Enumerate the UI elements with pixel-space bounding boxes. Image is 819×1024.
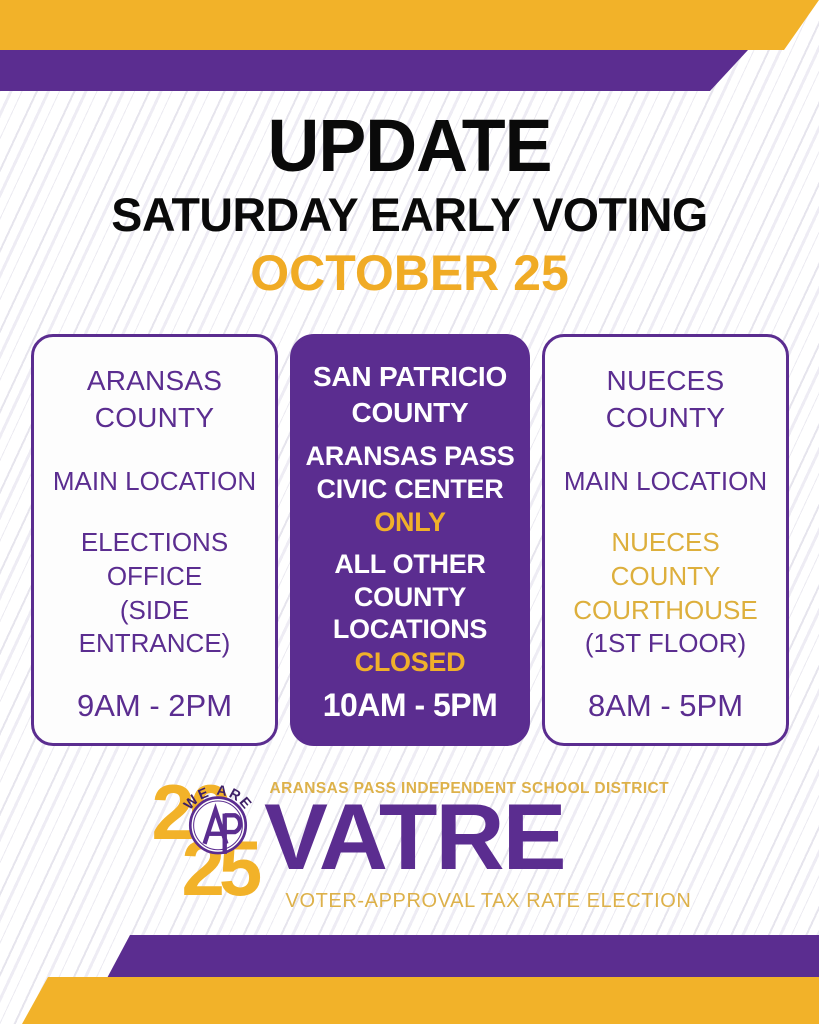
location-detail-line-2: OFFICE bbox=[42, 560, 267, 594]
county-card-nueces: NUECES COUNTY MAIN LOCATION NUECES COUNT… bbox=[542, 334, 789, 746]
closed-locations-line-1: ALL OTHER bbox=[333, 548, 487, 581]
top-purple-band bbox=[0, 50, 819, 91]
bottom-gold-band bbox=[0, 977, 819, 1024]
closed-locations: ALL OTHER COUNTY LOCATIONS CLOSED bbox=[333, 548, 487, 680]
county-name-line-1: NUECES bbox=[606, 363, 725, 400]
location-detail: ELECTIONS OFFICE (SIDE ENTRANCE) bbox=[42, 526, 267, 661]
page-subtitle: SATURDAY EARLY VOTING bbox=[4, 187, 815, 243]
event-date: OCTOBER 25 bbox=[0, 245, 819, 303]
county-name-line-1: SAN PATRICIO bbox=[313, 359, 507, 395]
location-detail-line-1: ELECTIONS bbox=[42, 526, 267, 560]
closed-status-badge: CLOSED bbox=[333, 646, 487, 679]
location-detail-line-4: (1ST FLOOR) bbox=[573, 627, 757, 661]
county-name: NUECES COUNTY bbox=[606, 363, 725, 437]
county-name-line-2: COUNTY bbox=[313, 395, 507, 431]
ap-seal-icon: WE ARE bbox=[176, 780, 260, 864]
county-name: SAN PATRICIO COUNTY bbox=[313, 359, 507, 432]
poster-canvas: UPDATE SATURDAY EARLY VOTING OCTOBER 25 … bbox=[0, 0, 819, 1024]
county-card-row: ARANSAS COUNTY MAIN LOCATION ELECTIONS O… bbox=[31, 334, 788, 746]
open-location-line-2: CIVIC CENTER bbox=[306, 473, 515, 506]
location-label: MAIN LOCATION bbox=[53, 465, 256, 499]
location-detail-line-3: COURTHOUSE bbox=[573, 594, 757, 628]
location-detail-line-1: NUECES bbox=[573, 526, 757, 560]
vatre-acronym: VATRE bbox=[264, 790, 565, 884]
headline-block: UPDATE SATURDAY EARLY VOTING OCTOBER 25 bbox=[0, 110, 819, 303]
county-name-line-1: ARANSAS bbox=[87, 363, 222, 400]
location-detail-line-2: COUNTY bbox=[573, 560, 757, 594]
open-location-emphasis: ONLY bbox=[306, 506, 515, 539]
county-name: ARANSAS COUNTY bbox=[87, 363, 222, 437]
open-location: ARANSAS PASS CIVIC CENTER ONLY bbox=[306, 440, 515, 539]
top-gold-band bbox=[0, 0, 819, 50]
voting-hours: 10AM - 5PM bbox=[323, 688, 498, 723]
page-title: UPDATE bbox=[12, 110, 806, 181]
logo-inner: 20 25 WE ARE ARANSAS PASS bbox=[140, 772, 680, 922]
voting-hours: 8AM - 5PM bbox=[588, 689, 743, 723]
voting-hours: 9AM - 2PM bbox=[77, 689, 232, 723]
location-detail: NUECES COUNTY COURTHOUSE (1ST FLOOR) bbox=[573, 526, 757, 661]
closed-locations-line-2: COUNTY bbox=[333, 581, 487, 614]
location-label: MAIN LOCATION bbox=[564, 465, 767, 499]
county-card-san-patricio: SAN PATRICIO COUNTY ARANSAS PASS CIVIC C… bbox=[290, 334, 530, 746]
location-detail-line-3: (SIDE ENTRANCE) bbox=[42, 594, 267, 662]
closed-locations-line-3: LOCATIONS bbox=[333, 613, 487, 646]
vatre-logo-lockup: 20 25 WE ARE ARANSAS PASS bbox=[0, 772, 819, 927]
county-name-line-2: COUNTY bbox=[606, 400, 725, 437]
county-name-line-2: COUNTY bbox=[87, 400, 222, 437]
county-card-aransas: ARANSAS COUNTY MAIN LOCATION ELECTIONS O… bbox=[31, 334, 278, 746]
open-location-line-1: ARANSAS PASS bbox=[306, 440, 515, 473]
vatre-tagline: VOTER-APPROVAL TAX RATE ELECTION bbox=[286, 890, 692, 913]
